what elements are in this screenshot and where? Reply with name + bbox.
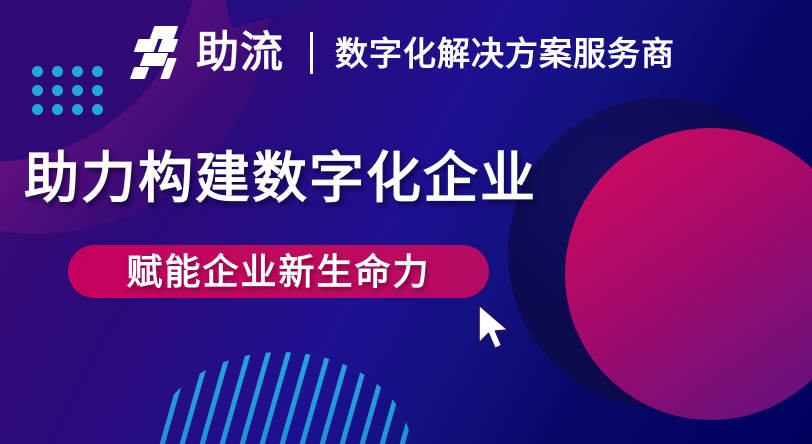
grid-dot bbox=[72, 66, 83, 77]
grid-dot bbox=[52, 104, 63, 115]
hero-pill-badge[interactable]: 赋能企业新生命力 bbox=[68, 245, 489, 298]
navy-circle-decoration bbox=[508, 98, 812, 408]
grid-dot bbox=[32, 85, 43, 96]
grid-dot bbox=[92, 66, 103, 77]
grid-dot bbox=[52, 66, 63, 77]
fan-line bbox=[150, 352, 201, 444]
grid-dot bbox=[72, 104, 83, 115]
fan-line bbox=[176, 352, 261, 444]
grid-dot bbox=[92, 104, 103, 115]
dot-grid-decoration bbox=[32, 66, 112, 123]
fan-line bbox=[256, 352, 341, 444]
grid-dot bbox=[92, 85, 103, 96]
grid-dot bbox=[72, 85, 83, 96]
grid-dot bbox=[32, 104, 43, 115]
fan-line bbox=[296, 352, 381, 444]
promo-banner: 助流 数字化解决方案服务商 助力构建数字化企业 赋能企业新生命力 bbox=[0, 0, 812, 444]
fan-line bbox=[196, 352, 281, 444]
mouse-pointer-icon bbox=[476, 303, 514, 353]
fan-line bbox=[356, 352, 412, 444]
diagonal-line-fan-decoration bbox=[150, 352, 412, 444]
hero-headline: 助力构建数字化企业 bbox=[24, 148, 537, 210]
hero-pill-label: 赋能企业新生命力 bbox=[126, 254, 430, 290]
grid-dot bbox=[32, 66, 43, 77]
fan-line bbox=[316, 352, 401, 444]
fan-line bbox=[150, 352, 221, 444]
grid-dot bbox=[52, 85, 63, 96]
fan-line bbox=[236, 352, 321, 444]
zhuliu-logo-mark-icon bbox=[130, 24, 186, 82]
header-divider bbox=[310, 32, 313, 74]
fan-line bbox=[156, 352, 241, 444]
logo-wordmark: 助流 bbox=[196, 32, 284, 75]
magenta-circle-decoration bbox=[565, 128, 812, 420]
fan-line bbox=[336, 352, 412, 444]
fan-line bbox=[216, 352, 301, 444]
company-tagline: 数字化解决方案服务商 bbox=[335, 37, 675, 70]
banner-header: 助流 数字化解决方案服务商 bbox=[130, 22, 675, 84]
fan-line bbox=[276, 352, 361, 444]
